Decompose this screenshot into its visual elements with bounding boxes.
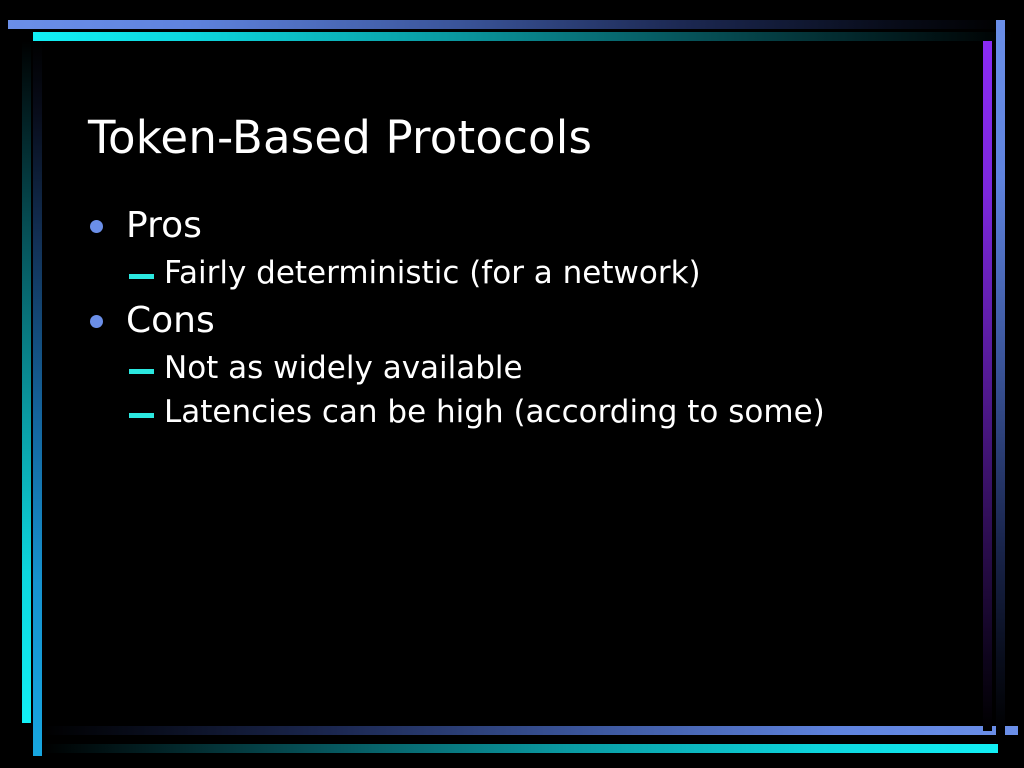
slide: Token-Based Protocols Pros Fairly determ… <box>0 0 1024 768</box>
dash-bullet-icon <box>129 369 154 374</box>
round-bullet-icon <box>90 220 103 233</box>
top-blue-accent-bar <box>8 20 1008 29</box>
bullet-text: Not as widely available <box>164 347 523 390</box>
bullet-text: Cons <box>126 297 215 345</box>
bullet-text: Fairly deterministic (for a network) <box>164 252 701 295</box>
bullet-text: Pros <box>126 202 202 250</box>
round-bullet-icon <box>90 315 103 328</box>
right-blue-accent-bar <box>996 20 1005 735</box>
bullet-item-not-as-widely-available: Not as widely available <box>129 347 964 390</box>
slide-body: Pros Fairly deterministic (for a network… <box>84 202 964 436</box>
left-blue-accent-bar <box>33 41 42 756</box>
slide-title: Token-Based Protocols <box>88 113 948 163</box>
bottom-cyan-accent-bar <box>42 744 998 753</box>
left-teal-accent-bar <box>22 41 31 723</box>
bullet-item-cons: Cons <box>84 297 964 345</box>
bullet-item-fairly-deterministic: Fairly deterministic (for a network) <box>129 252 964 295</box>
top-cyan-accent-bar <box>33 32 1013 41</box>
right-purple-accent-bar <box>983 41 992 731</box>
dash-bullet-icon <box>129 413 154 418</box>
bullet-item-pros: Pros <box>84 202 964 250</box>
bullet-text: Latencies can be high (according to some… <box>164 391 825 434</box>
dash-bullet-icon <box>129 274 154 279</box>
bottom-blue-accent-bar <box>42 726 1018 735</box>
bullet-item-latencies-can-be-high: Latencies can be high (according to some… <box>129 391 964 434</box>
